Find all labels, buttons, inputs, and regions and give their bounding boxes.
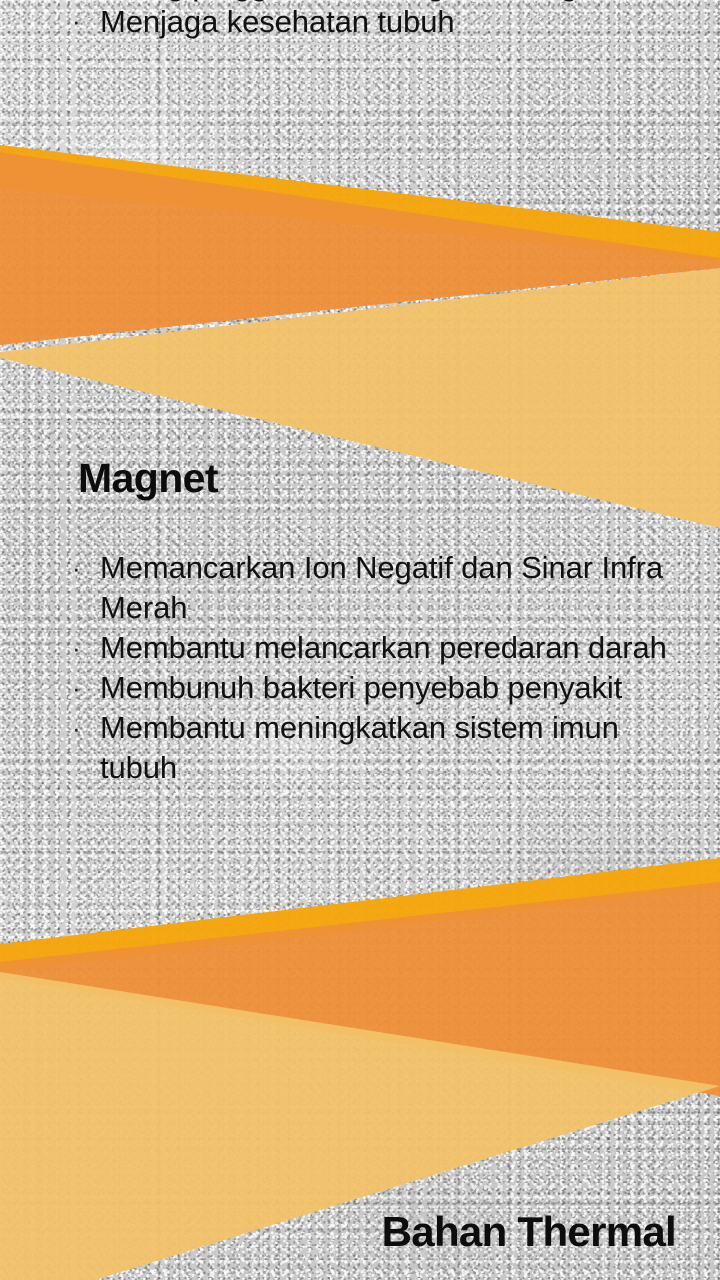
bullet-marker-icon: ·: [72, 3, 100, 40]
bahan-thermal-heading: Bahan Thermal: [382, 1208, 676, 1256]
list-item: · Membantu meningkatkan sistem imun tubu…: [72, 708, 692, 788]
list-item-label: Membantu melancarkan peredaran darah: [100, 628, 692, 668]
top-bullet-list: · tulang pinggul dan tulang belakang · M…: [72, 0, 672, 40]
list-item-label: Menjaga kesehatan tubuh: [100, 3, 672, 40]
magnet-bullet-list: · Memancarkan Ion Negatif dan Sinar Infr…: [72, 548, 692, 788]
bullet-marker-icon: ·: [72, 548, 100, 588]
text-content-layer: · tulang pinggul dan tulang belakang · M…: [0, 0, 720, 1280]
list-item-label: Memancarkan Ion Negatif dan Sinar Infra …: [100, 548, 692, 628]
list-item: · Membunuh bakteri penyebab penyakit: [72, 668, 692, 708]
list-item: · Membantu melancarkan peredaran darah: [72, 628, 692, 668]
bullet-marker-icon: ·: [72, 708, 100, 748]
bullet-marker-icon: ·: [72, 668, 100, 708]
list-item: · Memancarkan Ion Negatif dan Sinar Infr…: [72, 548, 692, 628]
bullet-marker-icon: ·: [72, 628, 100, 668]
list-item-label: Membunuh bakteri penyebab penyakit: [100, 668, 692, 708]
list-item: · Menjaga kesehatan tubuh: [72, 3, 672, 40]
list-item-label: Membantu meningkatkan sistem imun tubuh: [100, 708, 692, 788]
poster-canvas: · tulang pinggul dan tulang belakang · M…: [0, 0, 720, 1280]
magnet-heading: Magnet: [78, 455, 218, 502]
